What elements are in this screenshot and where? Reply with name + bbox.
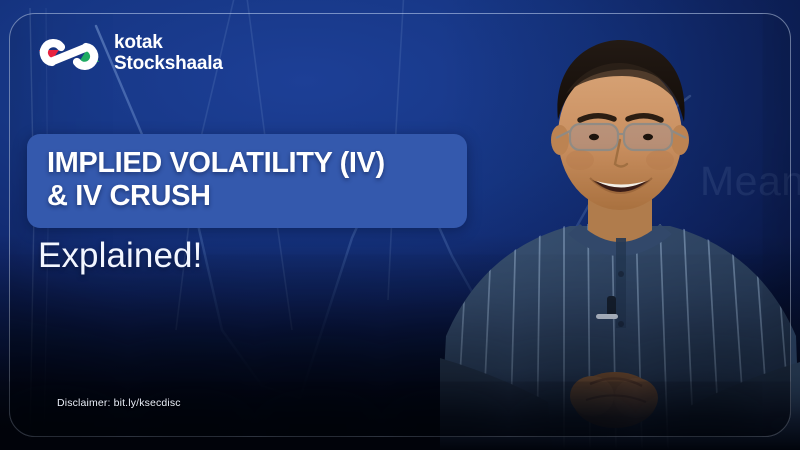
page-title: IMPLIED VOLATILITY (IV) & IV CRUSH <box>47 147 449 213</box>
brand-name-line1: kotak <box>114 33 223 54</box>
disclaimer-text[interactable]: Disclaimer: bit.ly/ksecdisc <box>57 397 181 409</box>
subtitle: Explained! <box>38 236 202 276</box>
brand-name-line2: Stockshaala <box>114 54 223 75</box>
title-line-2: & IV CRUSH <box>47 180 449 213</box>
video-thumbnail: Mean <box>0 0 800 450</box>
title-line-1: IMPLIED VOLATILITY (IV) <box>47 147 449 180</box>
brand-logo-text: kotak Stockshaala <box>114 33 223 74</box>
brand-logo[interactable]: kotak Stockshaala <box>36 33 223 74</box>
presenter-photo <box>440 28 800 450</box>
kotak-infinity-logo-icon <box>36 34 102 74</box>
title-panel: IMPLIED VOLATILITY (IV) & IV CRUSH <box>27 134 467 228</box>
